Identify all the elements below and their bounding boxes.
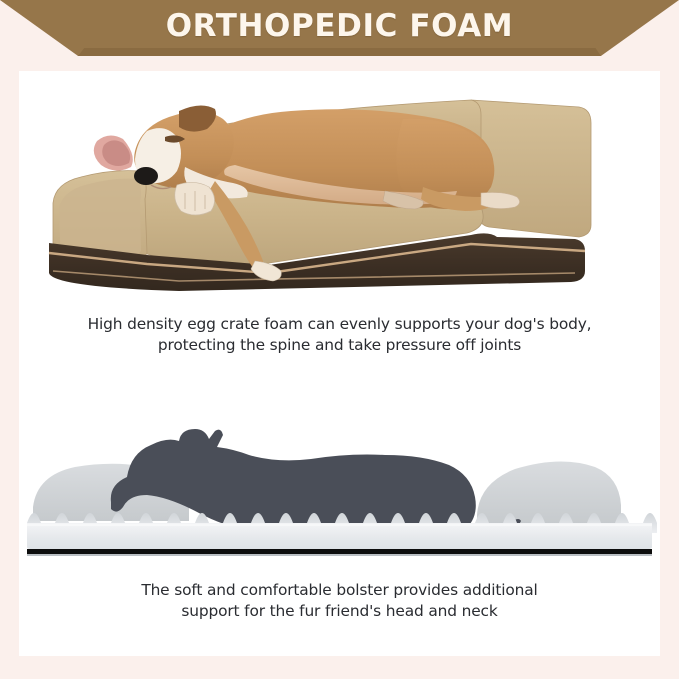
caption-line-1: The soft and comfortable bolster provide…	[19, 580, 660, 601]
caption-bolster-description: The soft and comfortable bolster provide…	[19, 580, 660, 622]
content-card: High density egg crate foam can evenly s…	[19, 71, 660, 656]
caption-line-2: support for the fur friend's head and ne…	[19, 601, 660, 622]
dog-bed-photo-illustration	[19, 75, 660, 303]
page-title: ORTHOPEDIC FOAM	[0, 0, 679, 52]
header-banner: ORTHOPEDIC FOAM	[0, 0, 679, 56]
dog-bed-photo	[19, 75, 660, 303]
caption-foam-description: High density egg crate foam can evenly s…	[19, 314, 660, 356]
caption-line-1: High density egg crate foam can evenly s…	[19, 314, 660, 335]
foam-cross-section-diagram	[19, 389, 660, 561]
egg-crate-foam-illustration	[19, 389, 660, 561]
caption-line-2: protecting the spine and take pressure o…	[19, 335, 660, 356]
